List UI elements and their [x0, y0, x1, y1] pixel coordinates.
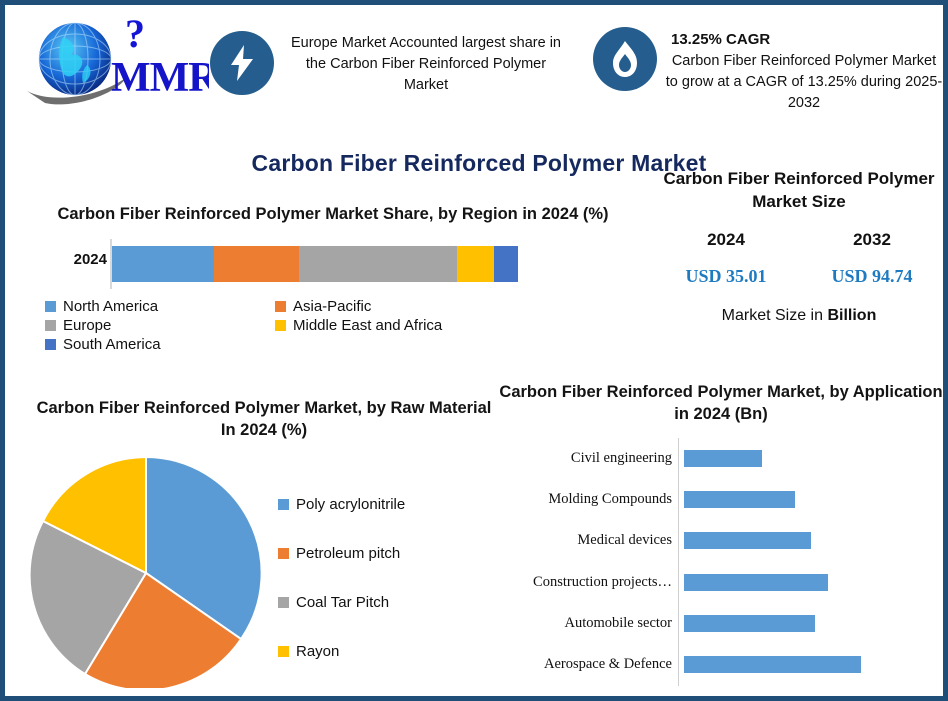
- application-bar-row: Automobile sector: [497, 603, 945, 644]
- legend-item-poly-acrylonitrile: Poly acrylonitrile: [278, 496, 499, 513]
- legend-swatch-icon: [278, 548, 289, 559]
- svg-text:?: ?: [125, 17, 145, 56]
- legend-label: Middle East and Africa: [293, 317, 442, 334]
- flame-glyph: [611, 40, 639, 78]
- market-size-year-end: 2032: [853, 230, 891, 250]
- application-label: Aerospace & Defence: [497, 656, 678, 673]
- raw-material-legend: Poly acrylonitrile Petroleum pitch Coal …: [264, 448, 499, 692]
- application-label: Construction projects…: [497, 574, 678, 591]
- header-highlight: Europe Market Accounted largest share in…: [210, 31, 570, 96]
- market-size-footnote-prefix: Market Size in: [722, 307, 828, 324]
- mmr-logo: ? MMR: [19, 17, 209, 109]
- pie-chart: [29, 448, 264, 688]
- legend-swatch-icon: [278, 646, 289, 657]
- market-size-values: USD 35.01 USD 94.74: [653, 266, 945, 287]
- application-bar-automobile-sector: [684, 615, 815, 632]
- cagr-description: Carbon Fiber Reinforced Polymer Market t…: [666, 53, 942, 111]
- lightning-bolt-glyph: [227, 44, 257, 82]
- legend-item-south-america: South America: [45, 336, 275, 353]
- market-size-panel: Carbon Fiber Reinforced Polymer Market S…: [653, 168, 945, 325]
- application-bar-row: Medical devices: [497, 520, 945, 561]
- region-segment-north-america: [112, 246, 214, 282]
- legend-swatch-icon: [45, 301, 56, 312]
- region-share-stacked-bar: [112, 246, 518, 282]
- infographic-canvas: ? MMR Europe Market Accounted largest sh…: [0, 0, 948, 701]
- legend-item-petroleum-pitch: Petroleum pitch: [278, 545, 499, 562]
- region-share-chart-title: Carbon Fiber Reinforced Polymer Market S…: [33, 203, 633, 225]
- legend-item-north-america: North America: [45, 298, 275, 315]
- svg-text:MMR: MMR: [111, 55, 209, 101]
- header-cagr: 13.25% CAGR Carbon Fiber Reinforced Poly…: [593, 27, 943, 114]
- application-label: Automobile sector: [497, 615, 678, 632]
- legend-label: Petroleum pitch: [296, 545, 400, 562]
- region-segment-middle-east: [457, 246, 494, 282]
- header-highlight-text: Europe Market Accounted largest share in…: [274, 31, 570, 96]
- region-segment-asia-pacific: [214, 246, 299, 282]
- legend-label: North America: [63, 298, 158, 315]
- market-size-footnote: Market Size in Billion: [653, 307, 945, 325]
- legend-item-europe: Europe: [45, 317, 275, 334]
- application-chart-title: Carbon Fiber Reinforced Polymer Market, …: [497, 381, 945, 426]
- market-size-years: 2024 2032: [653, 230, 945, 250]
- legend-item-coal-tar-pitch: Coal Tar Pitch: [278, 594, 499, 611]
- market-size-title: Carbon Fiber Reinforced Polymer Market S…: [653, 168, 945, 214]
- legend-label: Poly acrylonitrile: [296, 496, 405, 513]
- legend-item-asia-pacific: Asia-Pacific: [275, 298, 505, 315]
- legend-swatch-icon: [275, 320, 286, 331]
- application-bar-aerospace-defence: [684, 656, 861, 673]
- legend-label: Rayon: [296, 643, 339, 660]
- legend-swatch-icon: [45, 320, 56, 331]
- legend-item-middle-east-africa: Middle East and Africa: [275, 317, 505, 334]
- globe-icon: ? MMR: [19, 17, 209, 109]
- header-cagr-text: 13.25% CAGR Carbon Fiber Reinforced Poly…: [657, 27, 943, 114]
- application-label: Medical devices: [497, 532, 678, 549]
- application-bar-construction-projects: [684, 574, 828, 591]
- market-size-value-start: USD 35.01: [685, 266, 766, 287]
- legend-swatch-icon: [278, 597, 289, 608]
- market-size-year-start: 2024: [707, 230, 745, 250]
- legend-label: Coal Tar Pitch: [296, 594, 389, 611]
- region-share-legend: North America Asia-Pacific Europe Middle…: [45, 297, 505, 354]
- market-size-unit: Billion: [827, 307, 876, 324]
- raw-material-chart: Carbon Fiber Reinforced Polymer Market, …: [29, 397, 499, 692]
- legend-swatch-icon: [45, 339, 56, 350]
- legend-label: Asia-Pacific: [293, 298, 371, 315]
- lightning-bolt-icon: [210, 31, 274, 95]
- application-bar-row: Aerospace & Defence: [497, 644, 945, 685]
- application-chart: Carbon Fiber Reinforced Polymer Market, …: [497, 381, 945, 686]
- application-label: Molding Compounds: [497, 491, 678, 508]
- application-bar-molding-compounds: [684, 491, 795, 508]
- application-bar-row: Molding Compounds: [497, 479, 945, 520]
- application-plot: Civil engineering Molding Compounds Medi…: [497, 438, 945, 686]
- legend-label: Europe: [63, 317, 111, 334]
- market-size-value-end: USD 94.74: [831, 266, 912, 287]
- legend-label: South America: [63, 336, 161, 353]
- application-bar-medical-devices: [684, 532, 811, 549]
- region-share-plot: 2024: [33, 239, 633, 289]
- legend-swatch-icon: [278, 499, 289, 510]
- raw-material-plot: Poly acrylonitrile Petroleum pitch Coal …: [29, 448, 499, 692]
- region-segment-europe: [299, 246, 457, 282]
- application-bar-row: Civil engineering: [497, 438, 945, 479]
- application-label: Civil engineering: [497, 450, 678, 467]
- cagr-headline: 13.25% CAGR: [665, 29, 943, 51]
- region-share-chart: Carbon Fiber Reinforced Polymer Market S…: [33, 203, 633, 354]
- flame-icon: [593, 27, 657, 91]
- raw-material-chart-title: Carbon Fiber Reinforced Polymer Market, …: [29, 397, 499, 442]
- legend-swatch-icon: [275, 301, 286, 312]
- application-bar-civil-engineering: [684, 450, 762, 467]
- region-segment-south-america: [494, 246, 518, 282]
- legend-item-rayon: Rayon: [278, 643, 499, 660]
- application-bar-row: Construction projects…: [497, 561, 945, 602]
- region-share-category-label: 2024: [45, 251, 107, 268]
